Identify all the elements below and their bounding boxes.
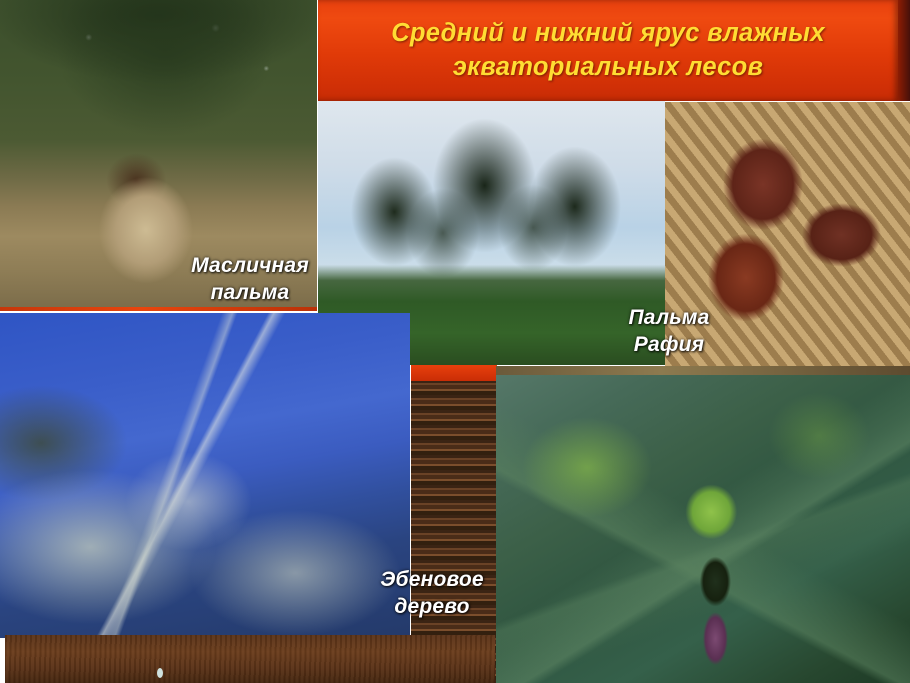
wood-plank-photo [5,635,495,683]
slide-canvas: Средний и нижний ярус влажных экваториал… [0,0,910,683]
slide-title-bar: Средний и нижний ярус влажных экваториал… [318,0,898,101]
ebony-tree-photo [0,313,410,638]
ebony-wood-orange-cap [411,365,497,381]
plank-highlight-dot [157,668,163,678]
oil-palm-photo [0,0,317,311]
banana-plant-photo [496,366,910,683]
slide-title: Средний и нижний ярус влажных экваториал… [318,17,898,85]
raffia-fruit-photo [665,102,910,368]
